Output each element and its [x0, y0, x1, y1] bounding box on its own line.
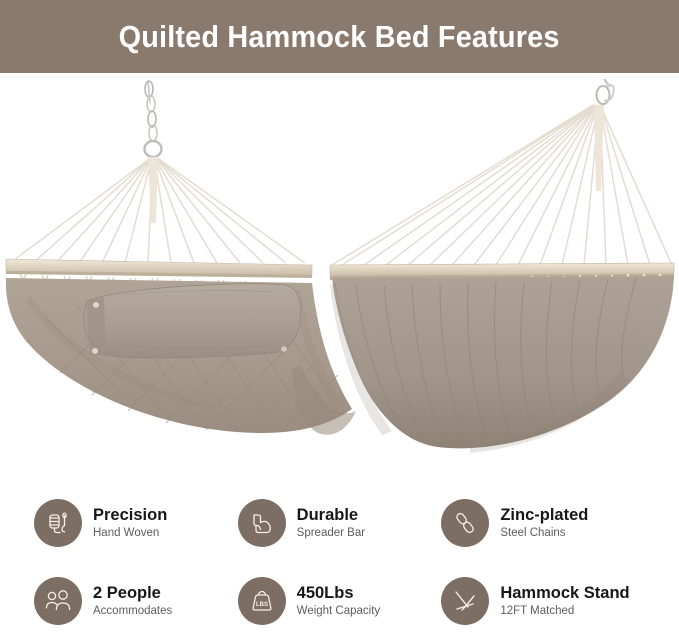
right-hanging-hook	[597, 79, 614, 104]
hammock-stand-icon	[451, 587, 479, 615]
feature-subtitle: Spreader Bar	[297, 527, 365, 540]
feature-subtitle: 12FT Matched	[500, 605, 629, 618]
chain-link-icon	[451, 509, 479, 537]
feature-subtitle: Hand Woven	[93, 527, 167, 540]
feature-text: Zinc-plated Steel Chains	[500, 506, 588, 539]
feature-text: Precision Hand Woven	[93, 506, 167, 539]
feature-text: 2 People Accommodates	[93, 584, 172, 617]
two-people-icon	[43, 587, 73, 615]
feature-title: 2 People	[93, 584, 172, 602]
feature-2-people: 2 People Accommodates	[34, 562, 238, 640]
feature-subtitle: Steel Chains	[500, 527, 588, 540]
feature-text: 450Lbs Weight Capacity	[297, 584, 381, 617]
feature-icon-badge	[34, 499, 82, 547]
hammock-product-photo	[0, 73, 679, 478]
product-feature-image: Quilted Hammock Bed Features	[0, 0, 679, 640]
feature-title: Hammock Stand	[500, 584, 629, 602]
feature-precision: Precision Hand Woven	[34, 484, 238, 562]
feature-text: Durable Spreader Bar	[297, 506, 365, 539]
feature-title: 450Lbs	[297, 584, 381, 602]
feature-title: Durable	[297, 506, 365, 524]
left-spreader-bar	[6, 259, 312, 278]
pillow-snap-button	[92, 348, 99, 355]
feature-list: Precision Hand Woven Durable Spreader Ba	[0, 484, 679, 640]
feature-zinc-plated: Zinc-plated Steel Chains	[441, 484, 645, 562]
feature-icon-badge	[441, 499, 489, 547]
hammock-pillow	[84, 284, 301, 358]
feature-icon-badge	[441, 577, 489, 625]
pillow-snap-button	[281, 346, 287, 352]
feature-durable: Durable Spreader Bar	[238, 484, 442, 562]
left-hanging-chain	[145, 81, 157, 141]
feature-hammock-stand: Hammock Stand 12FT Matched	[441, 562, 645, 640]
left-rope-gather	[148, 157, 158, 223]
feature-title: Zinc-plated	[500, 506, 588, 524]
page-title: Quilted Hammock Bed Features	[119, 19, 560, 55]
feature-icon-badge	[238, 499, 286, 547]
feature-icon-badge: LBS	[238, 577, 286, 625]
feature-weight-capacity: LBS 450Lbs Weight Capacity	[238, 562, 442, 640]
left-suspension-ring	[145, 141, 162, 157]
pillow-snap-button	[93, 302, 100, 309]
hammock-bed-right	[330, 276, 674, 453]
feature-title: Precision	[93, 506, 167, 524]
feature-icon-badge	[34, 577, 82, 625]
feature-subtitle: Weight Capacity	[297, 605, 381, 618]
feature-subtitle: Accommodates	[93, 605, 172, 618]
svg-text:LBS: LBS	[256, 602, 268, 608]
right-rope-fan	[332, 105, 672, 265]
weight-lbs-icon: LBS	[248, 587, 276, 615]
feature-text: Hammock Stand 12FT Matched	[500, 584, 629, 617]
thread-spool-needle-icon	[44, 509, 72, 537]
flexed-bicep-icon	[248, 509, 276, 537]
header-banner: Quilted Hammock Bed Features	[0, 0, 679, 73]
